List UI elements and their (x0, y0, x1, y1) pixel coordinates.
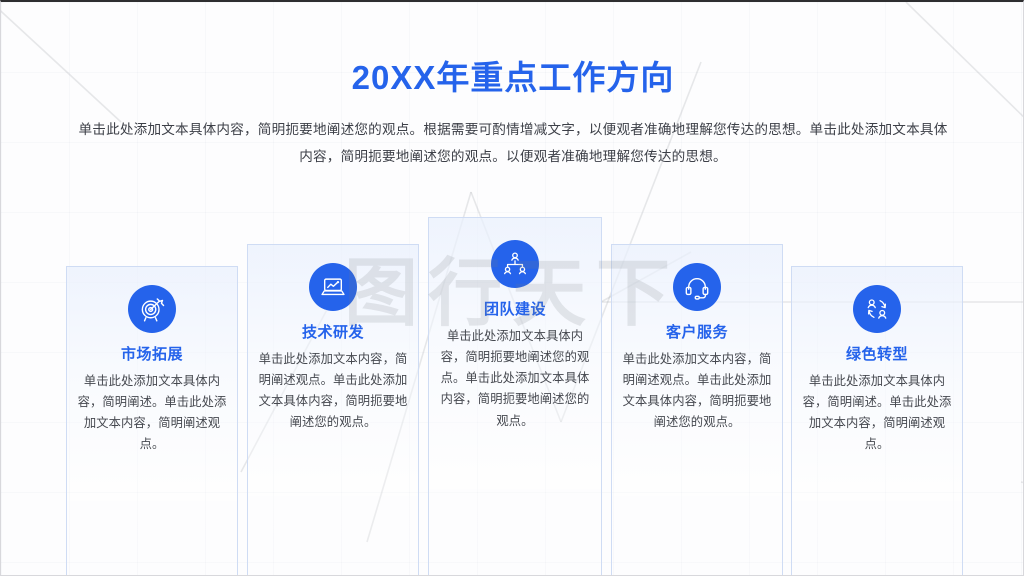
card-title: 团队建设 (439, 298, 591, 319)
laptop-chart-icon (309, 263, 357, 311)
card-title: 绿色转型 (802, 343, 952, 364)
headset-icon (673, 263, 721, 311)
card-body: 单击此处添加文本具体内容，简明阐述。单击此处添加文本内容，简明阐述观点。 (77, 371, 227, 456)
card-customer-service[interactable]: 客户服务 单击此处添加文本内容，简明阐述观点。单击此处添加文本具体内容，简明扼要… (611, 244, 783, 576)
card-technology-rnd[interactable]: 技术研发 单击此处添加文本内容，简明阐述观点。单击此处添加文本具体内容，简明扼要… (247, 244, 419, 576)
slide-subtitle: 单击此处添加文本具体内容，简明扼要地阐述您的观点。根据需要可酌情增减文字，以便观… (73, 116, 953, 170)
card-market-expansion[interactable]: 市场拓展 单击此处添加文本具体内容，简明阐述。单击此处添加文本内容，简明阐述观点… (66, 266, 238, 576)
target-icon (128, 285, 176, 333)
card-body: 单击此处添加文本具体内容，简明扼要地阐述您的观点。单击此处添加文本具体内容，简明… (439, 326, 591, 432)
slide-header: 20XX年重点工作方向 单击此处添加文本具体内容，简明扼要地阐述您的观点。根据需… (1, 2, 1024, 171)
card-title: 客户服务 (622, 321, 772, 342)
card-green-transformation[interactable]: 绿色转型 单击此处添加文本具体内容，简明阐述。单击此处添加文本内容，简明阐述观点… (791, 266, 963, 576)
card-title: 市场拓展 (77, 343, 227, 364)
slide-canvas: 图行天下 20XX年重点工作方向 单击此处添加文本具体内容，简明扼要地阐述您的观… (0, 0, 1024, 576)
people-exchange-icon (853, 285, 901, 333)
card-body: 单击此处添加文本具体内容，简明阐述。单击此处添加文本内容，简明阐述观点。 (802, 371, 952, 456)
card-body: 单击此处添加文本内容，简明阐述观点。单击此处添加文本具体内容，简明扼要地阐述您的… (622, 349, 772, 434)
card-title: 技术研发 (258, 321, 408, 342)
page-title: 20XX年重点工作方向 (1, 2, 1024, 96)
org-chart-icon (491, 240, 539, 288)
card-body: 单击此处添加文本内容，简明阐述观点。单击此处添加文本具体内容，简明扼要地阐述您的… (258, 349, 408, 434)
card-team-building[interactable]: 团队建设 单击此处添加文本具体内容，简明扼要地阐述您的观点。单击此处添加文本具体… (428, 217, 602, 576)
